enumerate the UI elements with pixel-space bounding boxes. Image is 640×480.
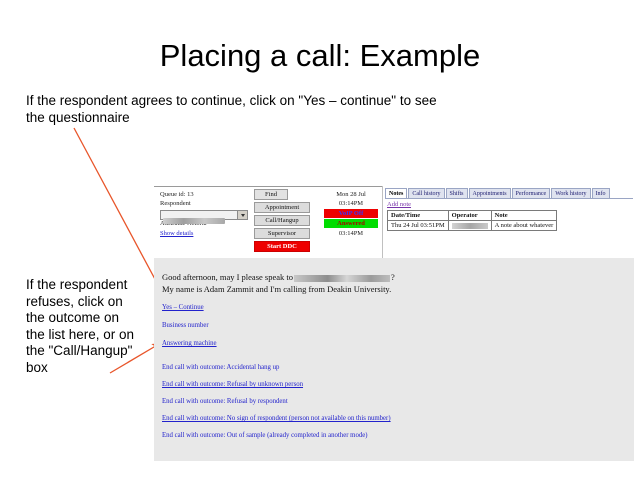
table-row: Thu 24 Jul 03:51PM A note about whatever xyxy=(388,221,557,231)
notes-table: Date/Time Operator Note Thu 24 Jul 03:51… xyxy=(387,210,557,231)
tab-work-history[interactable]: Work history xyxy=(551,188,590,198)
column-header-operator: Operator xyxy=(448,211,491,221)
respondent-info-column: Queue id: 13 Respondent Australia/Victor… xyxy=(160,191,252,238)
link-outcome-no-sign-of-respondent[interactable]: End call with outcome: No sign of respon… xyxy=(162,415,391,422)
app-body-panel: Good afternoon, may I please speak to? M… xyxy=(154,258,634,461)
tab-shifts[interactable]: Shifts xyxy=(446,188,468,198)
status-time-top: 03:14PM xyxy=(324,199,378,208)
status-column: Mon 28 Jul 03:14PM VoIP Off Answered 03:… xyxy=(324,190,378,238)
cell-datetime: Thu 24 Jul 03:51PM xyxy=(388,221,449,231)
link-outcome-refusal-unknown-person[interactable]: End call with outcome: Refusal by unknow… xyxy=(162,381,303,388)
add-note-link[interactable]: Add note xyxy=(387,201,411,208)
tab-info[interactable]: Info xyxy=(592,188,610,198)
queue-id-label: Queue id: 13 xyxy=(160,191,252,200)
script-line-1: Good afternoon, may I please speak to? xyxy=(162,272,395,282)
operator-redacted xyxy=(452,223,488,229)
cell-operator xyxy=(448,221,491,231)
link-answering-machine[interactable]: Answering machine xyxy=(162,340,217,347)
callout-text-left: If the respondent refuses, click on the … xyxy=(26,277,136,376)
table-header-row: Date/Time Operator Note xyxy=(388,211,557,221)
show-details-link[interactable]: Show details xyxy=(160,229,252,238)
link-outcome-accidental-hang-up[interactable]: End call with outcome: Accidental hang u… xyxy=(162,364,279,371)
link-outcome-out-of-sample[interactable]: End call with outcome: Out of sample (al… xyxy=(162,432,368,439)
respondent-label: Respondent xyxy=(160,200,252,209)
voip-status-badge[interactable]: VoIP Off xyxy=(324,209,378,218)
application-screenshot: Queue id: 13 Respondent Australia/Victor… xyxy=(154,186,634,461)
respondent-value-redacted xyxy=(163,218,225,224)
tab-performance[interactable]: Performance xyxy=(512,188,551,198)
script-line-2: My name is Adam Zammit and I'm calling f… xyxy=(162,284,391,294)
respondent-name-redacted xyxy=(294,275,390,282)
script-line-1-suffix: ? xyxy=(391,272,395,282)
tab-call-history[interactable]: Call history xyxy=(408,188,444,198)
start-ddc-button[interactable]: Start DDC xyxy=(254,241,310,252)
respondent-select[interactable] xyxy=(160,210,248,220)
tab-notes[interactable]: Notes xyxy=(385,188,407,198)
slide-canvas: Placing a call: Example If the responden… xyxy=(0,0,640,480)
find-button[interactable]: Find xyxy=(254,189,288,200)
link-outcome-refusal-respondent[interactable]: End call with outcome: Refusal by respon… xyxy=(162,398,288,405)
cell-note: A note about whatever xyxy=(491,221,557,231)
appointment-button[interactable]: Appointment xyxy=(254,202,310,213)
app-header-panel: Queue id: 13 Respondent Australia/Victor… xyxy=(154,186,634,259)
status-date: Mon 28 Jul xyxy=(324,190,378,199)
action-button-column: Find Appointment Call/Hangup Supervisor … xyxy=(254,189,316,254)
column-header-datetime: Date/Time xyxy=(388,211,449,221)
script-line-1-text: Good afternoon, may I please speak to xyxy=(162,272,293,282)
answered-status-badge: Answered xyxy=(324,219,378,228)
supervisor-button[interactable]: Supervisor xyxy=(254,228,310,239)
tab-bar: Notes Call history Shifts Appointments P… xyxy=(385,188,633,199)
call-hangup-button[interactable]: Call/Hangup xyxy=(254,215,310,226)
tabbed-right-pane: Notes Call history Shifts Appointments P… xyxy=(382,186,634,258)
link-business-number[interactable]: Business number xyxy=(162,322,209,329)
status-time-bottom: 03:14PM xyxy=(324,229,378,238)
page-title: Placing a call: Example xyxy=(0,38,640,74)
arrow-top xyxy=(74,128,164,296)
link-yes-continue[interactable]: Yes – Continue xyxy=(162,304,204,311)
tab-appointments[interactable]: Appointments xyxy=(469,188,511,198)
column-header-note: Note xyxy=(491,211,557,221)
callout-text-top: If the respondent agrees to continue, cl… xyxy=(26,92,456,126)
chevron-down-icon[interactable] xyxy=(237,211,247,219)
